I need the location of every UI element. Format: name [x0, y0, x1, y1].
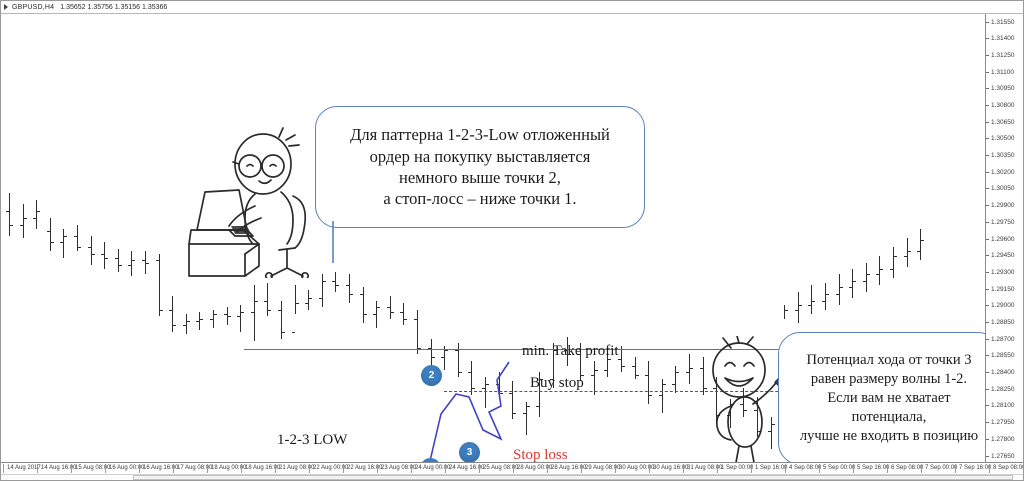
scroll-left-arrow-icon[interactable]	[2, 475, 9, 480]
price-axis-tick: 1.29450	[986, 251, 1015, 261]
price-tick-dash-icon	[986, 355, 989, 356]
scrollbar-thumb[interactable]	[133, 475, 1013, 480]
price-tick-dash-icon	[986, 405, 989, 406]
price-axis-tick: 1.30200	[986, 167, 1015, 177]
price-axis-tick: 1.30800	[986, 100, 1015, 110]
time-axis-tick: 5 Sep 00:00	[819, 464, 855, 473]
price-tick-dash-icon	[986, 222, 989, 223]
price-axis-tick: 1.27650	[986, 451, 1015, 461]
time-axis-tick: 4 Sep 08:00	[785, 464, 821, 473]
pattern-point-2-marker[interactable]: 2	[421, 365, 442, 386]
price-axis-tick: 1.30500	[986, 134, 1015, 144]
price-axis-tick: 1.29750	[986, 217, 1015, 227]
callout-line: Если вам не хватает	[800, 389, 978, 408]
callout-line: ордер на покупку выставляется	[350, 146, 610, 167]
price-tick-dash-icon	[986, 339, 989, 340]
callout-line: а стоп-лосс – ниже точки 1.	[350, 188, 610, 209]
time-axis-tick: 7 Sep 16:00	[955, 464, 991, 473]
pattern-point-3-marker[interactable]: 3	[459, 442, 480, 462]
chart-titlebar: GBPUSD,H4 1.35652 1.35756 1.35156 1.3536…	[1, 1, 1023, 14]
price-axis-tick: 1.29900	[986, 201, 1015, 211]
price-axis-tick: 1.28550	[986, 351, 1015, 361]
price-axis-tick: 1.29150	[986, 284, 1015, 294]
price-tick-dash-icon	[986, 72, 989, 73]
scroll-right-arrow-icon[interactable]	[1015, 475, 1022, 480]
price-tick-dash-icon	[986, 239, 989, 240]
price-tick-dash-icon	[986, 188, 989, 189]
price-axis-tick: 1.28850	[986, 317, 1015, 327]
callout-potential: Потенциал хода от точки 3равен размеру в…	[778, 332, 985, 462]
chart-symbol-label: GBPUSD,H4	[12, 4, 54, 11]
time-axis-tick: 14 Aug 2017	[3, 464, 41, 473]
price-axis-tick: 1.28250	[986, 384, 1015, 394]
price-axis-tick: 1.28700	[986, 334, 1015, 344]
price-axis-tick: 1.29300	[986, 267, 1015, 277]
stop-loss-label: Stop loss	[513, 447, 568, 462]
price-tick-dash-icon	[986, 456, 989, 457]
price-axis-tick: 1.31100	[986, 67, 1014, 77]
price-axis-tick: 1.30650	[986, 117, 1015, 127]
price-axis-tick: 1.31550	[986, 17, 1015, 27]
time-axis-tick: 1 Sep 16:00	[751, 464, 787, 473]
price-axis[interactable]: 1.315501.314001.312501.311001.309501.308…	[985, 14, 1023, 462]
price-axis-tick: 1.31250	[986, 50, 1015, 60]
price-tick-dash-icon	[986, 38, 989, 39]
price-tick-dash-icon	[986, 55, 989, 56]
callout-line: Потенциал хода от точки 3	[800, 351, 978, 370]
price-axis-tick: 1.30350	[986, 151, 1015, 161]
callout-line: равен размеру волны 1-2.	[800, 370, 978, 389]
price-axis-tick: 1.30950	[986, 84, 1015, 94]
price-tick-dash-icon	[986, 205, 989, 206]
price-axis-tick: 1.28100	[986, 401, 1015, 411]
callout-pattern-rules-tail	[331, 219, 371, 267]
price-tick-dash-icon	[986, 255, 989, 256]
stick-figure-at-laptop-icon	[183, 126, 325, 278]
callout-line: Для паттерна 1-2-3-Low отложенный	[350, 124, 610, 145]
time-axis-tick: 5 Sep 16:00	[853, 464, 889, 473]
price-tick-dash-icon	[986, 289, 989, 290]
triangle-right-icon[interactable]	[4, 4, 8, 10]
price-tick-dash-icon	[986, 305, 989, 306]
time-axis-tick: 8 Sep 08:00	[989, 464, 1023, 473]
callout-line: немного выше точки 2,	[350, 167, 610, 188]
chart-plot-area[interactable]: 1 2 3 1-2-3 LOW min. Take profit Buy sto…	[1, 14, 985, 462]
price-tick-dash-icon	[986, 122, 989, 123]
price-tick-dash-icon	[986, 389, 989, 390]
price-tick-dash-icon	[986, 155, 989, 156]
price-axis-tick: 1.29000	[986, 301, 1015, 311]
time-axis-tick: 1 Sep 00:00	[717, 464, 753, 473]
time-axis[interactable]: 14 Aug 201714 Aug 16:0015 Aug 08:0016 Au…	[1, 462, 1023, 480]
price-axis-tick: 1.27800	[986, 434, 1015, 444]
price-axis-tick: 1.31400	[986, 34, 1015, 44]
price-tick-dash-icon	[986, 322, 989, 323]
chart-horizontal-scrollbar[interactable]	[1, 474, 1023, 480]
price-tick-dash-icon	[986, 105, 989, 106]
callout-pattern-rules: Для паттерна 1-2-3-Low отложенныйордер н…	[315, 106, 645, 228]
callout-line: лучше не входить в позицию	[800, 427, 978, 446]
callout-potential-text: Потенциал хода от точки 3равен размеру в…	[800, 351, 978, 445]
price-tick-dash-icon	[986, 22, 989, 23]
price-axis-tick: 1.27950	[986, 418, 1015, 428]
price-axis-tick: 1.30050	[986, 184, 1015, 194]
price-tick-dash-icon	[986, 272, 989, 273]
time-axis-tick: 7 Sep 00:00	[921, 464, 957, 473]
price-tick-dash-icon	[986, 372, 989, 373]
take-profit-label: min. Take profit	[522, 343, 619, 360]
price-tick-dash-icon	[986, 172, 989, 173]
price-tick-dash-icon	[986, 88, 989, 89]
callout-line: потенциала,	[800, 408, 978, 427]
price-axis-tick: 1.29600	[986, 234, 1015, 244]
price-tick-dash-icon	[986, 439, 989, 440]
buy-stop-label: Buy stop	[530, 375, 584, 392]
time-axis-tick: 6 Sep 08:00	[887, 464, 923, 473]
callout-pattern-rules-text: Для паттерна 1-2-3-Low отложенныйордер н…	[350, 124, 610, 210]
price-axis-tick: 1.28400	[986, 368, 1015, 378]
price-tick-dash-icon	[986, 138, 989, 139]
chart-quotes-label: 1.35652 1.35756 1.35156 1.35366	[60, 4, 167, 11]
chart-window: GBPUSD,H4 1.35652 1.35756 1.35156 1.3536…	[0, 0, 1024, 481]
pattern-name-label: 1-2-3 LOW	[277, 432, 347, 449]
price-tick-dash-icon	[986, 422, 989, 423]
